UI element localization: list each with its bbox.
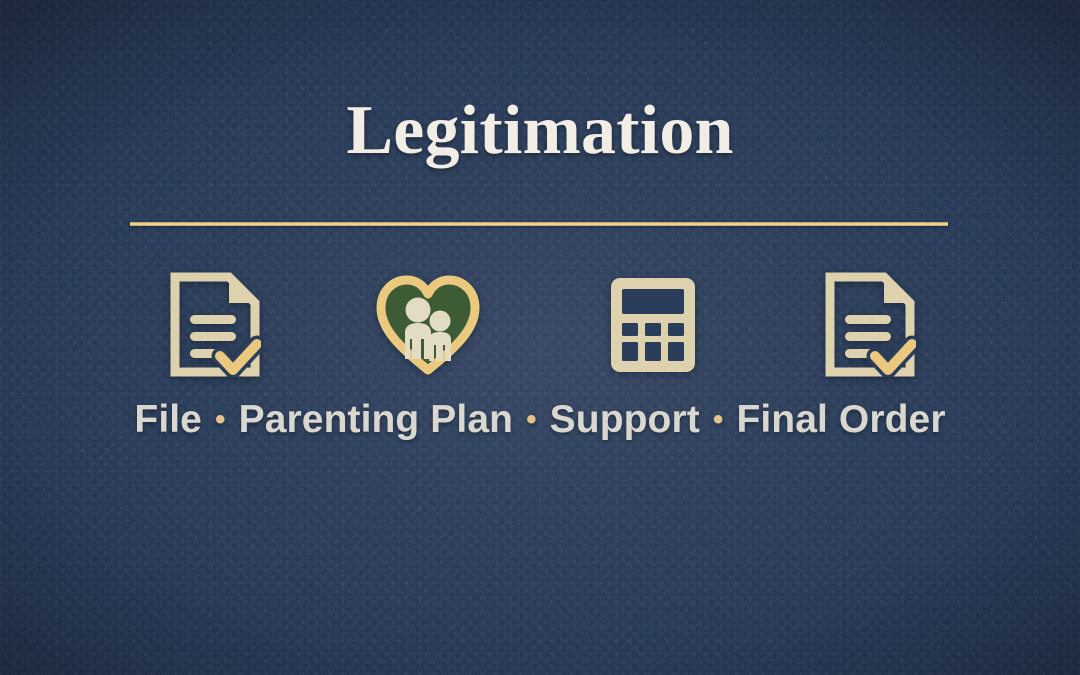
bullet-separator-1: • — [202, 403, 239, 436]
calculator-icon — [609, 276, 697, 374]
document-check-icon — [824, 272, 916, 377]
step-icon-parenting-plan — [373, 272, 483, 377]
process-step-labels: File•Parenting Plan•Support•Final Order — [100, 396, 980, 444]
heart-family-icon — [374, 275, 482, 375]
process-icon-row — [0, 272, 1080, 382]
step-label-final-order: Final Order — [736, 398, 945, 441]
bullet-separator-3: • — [700, 403, 737, 436]
step-icon-file — [160, 272, 270, 377]
gold-divider-rule — [130, 222, 948, 226]
step-icon-support — [598, 272, 708, 377]
step-label-file: File — [134, 398, 202, 441]
step-label-parenting-plan: Parenting Plan — [239, 398, 513, 441]
step-label-support: Support — [550, 398, 700, 441]
slide-title: Legitimation — [0, 96, 1080, 166]
step-icon-final-order — [815, 272, 925, 377]
legitimation-slide: Legitimation — [0, 0, 1080, 675]
bullet-separator-2: • — [513, 403, 550, 436]
document-check-icon — [169, 272, 261, 377]
